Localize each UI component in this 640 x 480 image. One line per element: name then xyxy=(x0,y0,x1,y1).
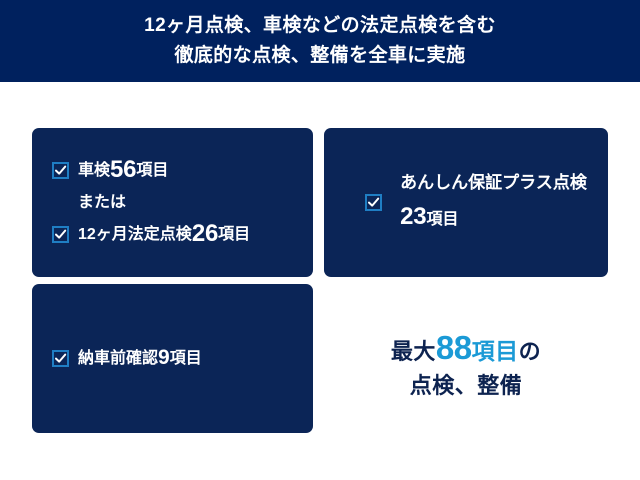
predelivery-label: 納車前確認 xyxy=(78,348,158,370)
inspection-row-1: 車検 56 項目 xyxy=(52,154,313,186)
card-predelivery: 納車前確認 9 項目 xyxy=(32,284,313,433)
inspection-row-1-label: 車検 xyxy=(78,160,110,182)
predelivery-row: 納車前確認 9 項目 xyxy=(52,344,313,372)
inspection-row-1-number: 56 xyxy=(110,154,136,186)
summary-prefix: 最大 xyxy=(391,339,436,364)
predelivery-number: 9 xyxy=(158,344,170,372)
header-banner: 12ヶ月点検、車検などの法定点検を含む 徹底的な点検、整備を全車に実施 xyxy=(0,0,640,82)
header-line-2: 徹底的な点検、整備を全車に実施 xyxy=(174,41,465,71)
card-warranty: あんしん保証プラス点検 23項目 xyxy=(324,128,608,277)
warranty-suffix: 項目 xyxy=(426,211,458,228)
header-line-1: 12ヶ月点検、車検などの法定点検を含む xyxy=(144,11,496,41)
summary-line-1: 最大88項目の xyxy=(391,331,541,369)
inspection-row-3-number: 26 xyxy=(192,218,218,250)
inspection-row-3-label: 12ヶ月法定点検 xyxy=(78,224,192,246)
summary-particle: の xyxy=(519,339,542,364)
card-inspection: 車検 56 項目 または 12ヶ月法定点検 26 項目 xyxy=(32,128,313,277)
warranty-text-block: あんしん保証プラス点検 23項目 xyxy=(400,170,587,236)
inspection-row-3: 12ヶ月法定点検 26 項目 xyxy=(52,218,313,250)
summary-unit: 項目 xyxy=(472,338,519,364)
promo-graphic: 12ヶ月点検、車検などの法定点検を含む 徹底的な点検、整備を全車に実施 車検 5… xyxy=(0,0,640,480)
predelivery-suffix: 項目 xyxy=(170,348,202,370)
summary-total: 最大88項目の 点検、整備 xyxy=(324,312,608,422)
warranty-number: 23 xyxy=(400,203,426,230)
card-inspection-content: 車検 56 項目 または 12ヶ月法定点検 26 項目 xyxy=(32,128,313,277)
card-warranty-content: あんしん保証プラス点検 23項目 xyxy=(324,128,608,277)
warranty-line-2: 23項目 xyxy=(400,199,587,235)
inspection-row-2: または xyxy=(52,192,313,214)
warranty-line-1: あんしん保証プラス点検 xyxy=(400,170,587,196)
checkbox-checked-icon xyxy=(52,162,69,179)
inspection-row-3-suffix: 項目 xyxy=(218,224,250,246)
summary-line-2: 点検、整備 xyxy=(410,369,523,403)
inspection-row-1-suffix: 項目 xyxy=(136,160,168,182)
checkbox-checked-icon xyxy=(52,226,69,243)
summary-number: 88 xyxy=(436,329,472,366)
checkbox-checked-icon xyxy=(52,350,69,367)
checkbox-checked-icon xyxy=(365,194,382,211)
inspection-row-2-label: または xyxy=(78,192,126,214)
card-predelivery-content: 納車前確認 9 項目 xyxy=(32,284,313,433)
